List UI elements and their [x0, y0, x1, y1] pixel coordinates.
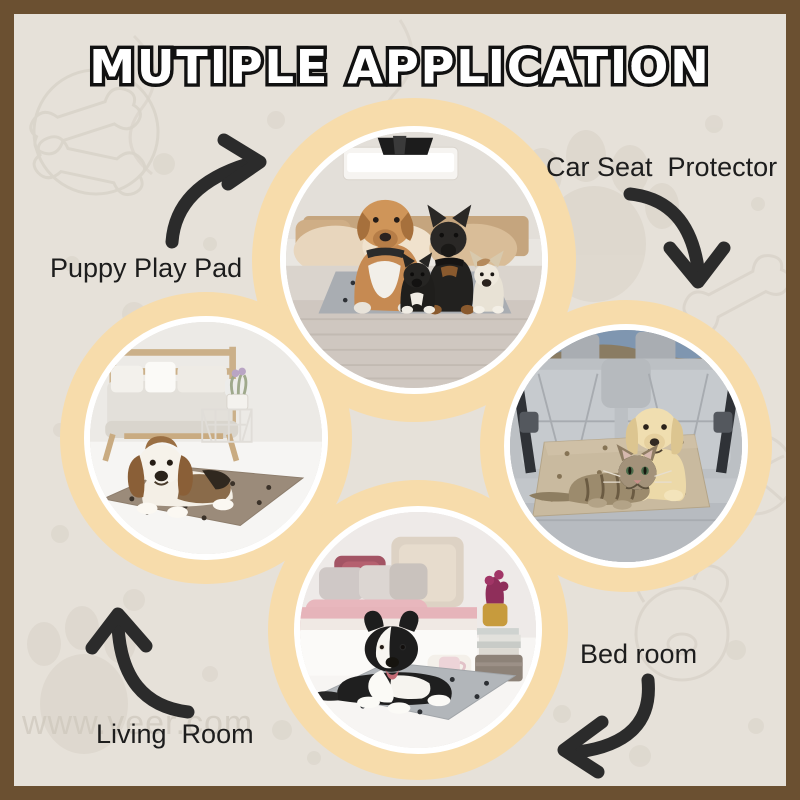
illustration-living-room-beagle — [90, 322, 322, 554]
scene-photo-living-room-beagle[interactable] — [84, 316, 328, 560]
arrow-up-right-icon — [156, 132, 286, 254]
scene-photo-car-seat-puppy-cat[interactable] — [504, 324, 748, 568]
arrow-up-left-icon — [82, 600, 210, 726]
arrow-top-right — [626, 186, 754, 302]
poster-frame: www.veer.com MUTIPLE APPLICATION MUTIPLE… — [0, 0, 800, 800]
poster-canvas: www.veer.com MUTIPLE APPLICATION MUTIPLE… — [14, 14, 786, 786]
illustration-bedroom-border-collie — [300, 512, 536, 748]
arrow-top-left — [156, 132, 286, 254]
illustration-bed-four-dogs — [286, 132, 542, 388]
page-title: MUTIPLE APPLICATION — [14, 40, 786, 94]
label-living-room: Living Room — [96, 719, 254, 750]
arrow-down-left-icon — [532, 670, 664, 786]
label-bed-room: Bed room — [580, 639, 697, 670]
label-puppy-play-pad: Puppy Play Pad — [50, 253, 242, 284]
scene-photo-bedroom-border-collie[interactable] — [294, 506, 542, 754]
scene-photo-bed-four-dogs[interactable] — [280, 126, 548, 394]
arrow-down-right-icon — [626, 186, 754, 302]
arrow-bottom-right — [532, 670, 664, 786]
illustration-car-seat-puppy-cat — [510, 330, 742, 562]
arrow-bottom-left — [82, 600, 210, 726]
label-car-seat-protector: Car Seat Protector — [546, 152, 777, 183]
